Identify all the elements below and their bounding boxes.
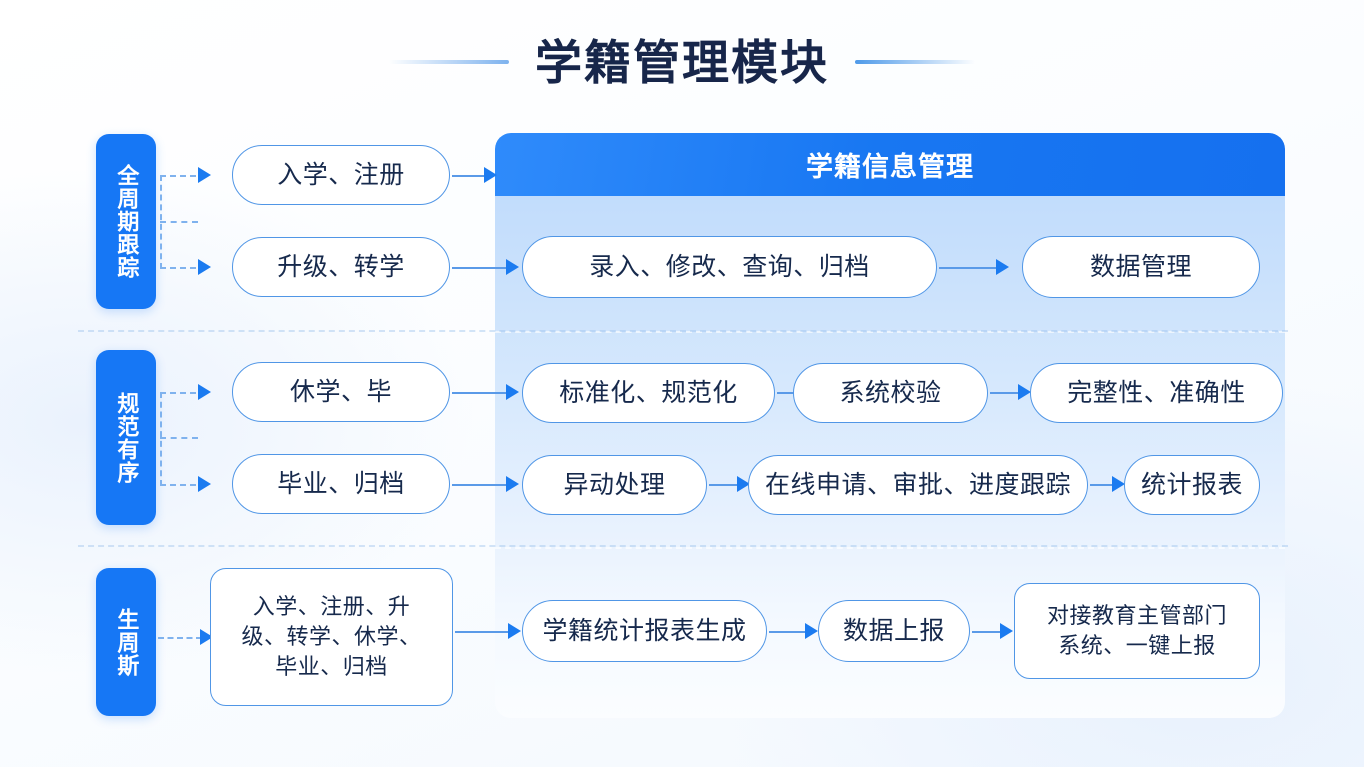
page-title: 学籍管理模块 [535, 39, 829, 86]
row-divider-2 [78, 545, 1288, 547]
input-pill-enrollment[interactable]: 入学、注册 [232, 145, 450, 205]
pill-label: 毕业、归档 [277, 468, 405, 501]
flow-node-online-apply-approve-track[interactable]: 在线申请、审批、进度跟踪 [748, 455, 1088, 515]
stage-label-full-lifecycle[interactable]: 全周期跟踪 [96, 134, 156, 309]
pill-label: 数据上报 [843, 615, 945, 648]
pill-label: 升级、转学 [277, 251, 405, 284]
input-pill-promotion-transfer[interactable]: 升级、转学 [232, 237, 450, 297]
pill-label: 完整性、准确性 [1067, 377, 1246, 410]
pill-label: 在线申请、审批、进度跟踪 [765, 469, 1071, 502]
conn-promotion [452, 267, 510, 269]
pill-label: 标准化、规范化 [559, 377, 738, 410]
diagram-canvas: 学籍管理模块 学籍信息管理 全周期跟踪 规范有序 生周斯 入学、注册 升级 [0, 0, 1364, 767]
stage1-branch-top [160, 175, 196, 177]
pill-label: 入学、注册 [277, 159, 405, 192]
flow-node-report-generation[interactable]: 学籍统计报表生成 [522, 600, 767, 662]
flow-node-integrity-accuracy[interactable]: 完整性、准确性 [1030, 363, 1283, 423]
stage2-branch-bottom [160, 484, 196, 486]
pill-label: 休学、毕 [290, 376, 392, 409]
flow-node-record-edit-query-archive[interactable]: 录入、修改、查询、归档 [522, 236, 937, 298]
pill-label: 录入、修改、查询、归档 [589, 251, 870, 284]
stage1-arrow-top-icon [198, 167, 211, 183]
pill-label: 入学、注册、升 级、转学、休学、 毕业、归档 [241, 592, 421, 682]
title-rule-right-icon [855, 60, 975, 64]
conn-lifecycle-all [455, 631, 512, 633]
stage1-bracket [160, 175, 162, 269]
pill-label: 学籍统计报表生成 [542, 615, 746, 648]
input-pill-lifecycle-all[interactable]: 入学、注册、升 级、转学、休学、 毕业、归档 [210, 568, 453, 706]
row-divider-1 [78, 330, 1288, 332]
title-rule-left-icon [389, 60, 509, 64]
input-pill-suspension[interactable]: 休学、毕 [232, 362, 450, 422]
flow-node-data-management[interactable]: 数据管理 [1022, 236, 1260, 298]
flow-node-education-bureau-integration[interactable]: 对接教育主管部门 系统、一键上报 [1014, 583, 1260, 679]
stage3-stem [158, 637, 202, 639]
conn-r4-1 [769, 631, 809, 633]
conn-r1-1 [939, 267, 1001, 269]
stage-label-text: 生周斯 [113, 608, 140, 677]
conn-enrollment [452, 175, 486, 177]
stage-label-text: 规范有序 [113, 392, 140, 484]
pill-label: 异动处理 [563, 469, 665, 502]
stage2-arrow-top-icon [198, 384, 211, 400]
conn-r1-1-arrow-icon [996, 259, 1009, 275]
stage-label-text: 全周期跟踪 [113, 164, 140, 279]
pill-label: 数据管理 [1090, 251, 1192, 284]
pill-label: 对接教育主管部门 系统、一键上报 [1047, 601, 1227, 661]
stage1-branch-bottom [160, 267, 196, 269]
pill-label: 系统校验 [839, 377, 941, 410]
conn-lifecycle-all-arrow-icon [508, 623, 521, 639]
pill-label: 统计报表 [1141, 469, 1243, 502]
panel-header: 学籍信息管理 [495, 133, 1285, 196]
stage1-arrow-bottom-icon [198, 259, 211, 275]
page-title-block: 学籍管理模块 [0, 26, 1364, 98]
stage2-stem [160, 437, 198, 439]
stage-label-student-lifecycle[interactable]: 生周斯 [96, 568, 156, 716]
stage2-arrow-bottom-icon [198, 476, 211, 492]
conn-r4-2-arrow-icon [1000, 623, 1013, 639]
flow-node-data-reporting[interactable]: 数据上报 [818, 600, 970, 662]
flow-node-statistical-report[interactable]: 统计报表 [1124, 455, 1260, 515]
conn-graduation-arrow-icon [506, 476, 519, 492]
panel-header-title: 学籍信息管理 [806, 145, 974, 184]
conn-suspension [452, 392, 510, 394]
stage2-bracket [160, 392, 162, 486]
flow-node-system-validation[interactable]: 系统校验 [793, 363, 988, 423]
conn-graduation [452, 484, 510, 486]
flow-node-status-change[interactable]: 异动处理 [522, 455, 707, 515]
panel-divider-2 [495, 547, 1285, 549]
stage1-stem [160, 221, 198, 223]
input-pill-graduation-archive[interactable]: 毕业、归档 [232, 454, 450, 514]
conn-r4-1-arrow-icon [805, 623, 818, 639]
conn-enrollment-arrow-icon [484, 167, 497, 183]
conn-suspension-arrow-icon [506, 384, 519, 400]
flow-node-standardization[interactable]: 标准化、规范化 [522, 363, 775, 423]
conn-promotion-arrow-icon [506, 259, 519, 275]
stage-label-standardized[interactable]: 规范有序 [96, 350, 156, 525]
stage2-branch-top [160, 392, 196, 394]
